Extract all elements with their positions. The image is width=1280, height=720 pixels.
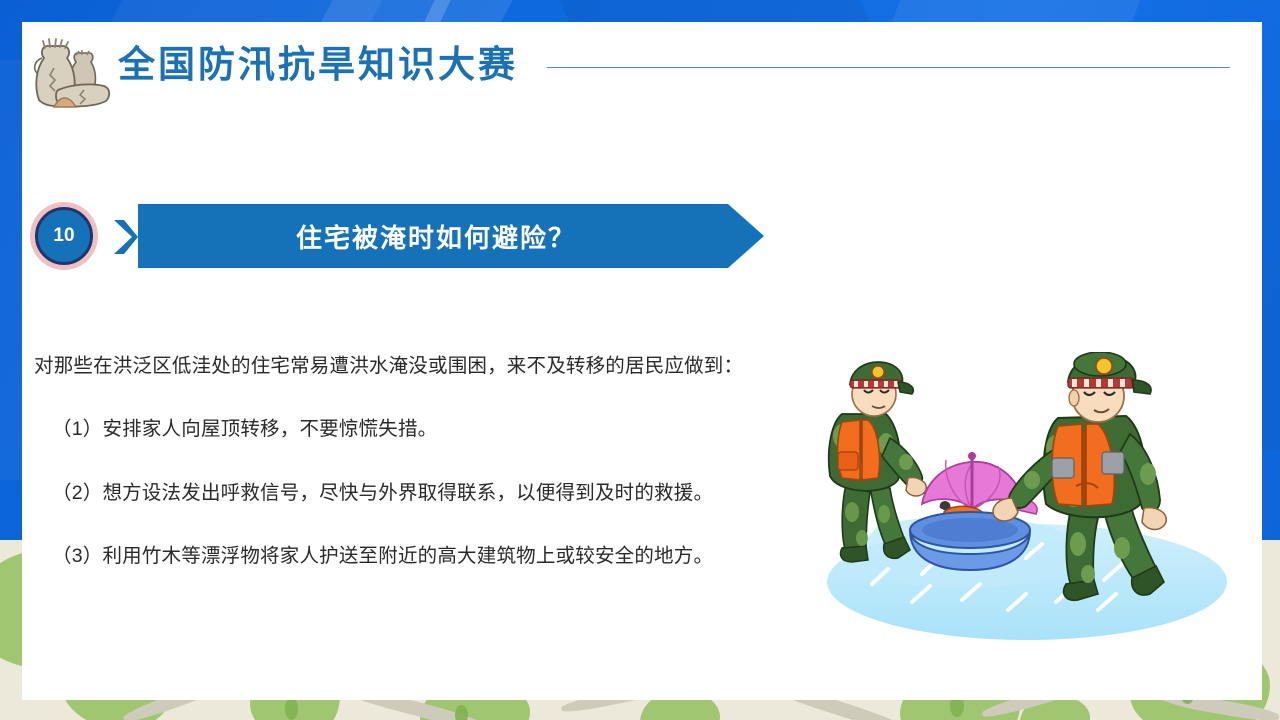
question-row: 10 住宅被淹时如何避险？ — [22, 202, 1262, 302]
slide-root: 全国防汛抗旱知识大赛 10 住宅被淹时如何避险？ 对那些在洪泛区低洼处的住宅常易… — [0, 0, 1280, 720]
body-item-2: （2）想方设法发出呼救信号，尽快与外界取得联系，以便得到及时的救援。 — [34, 481, 824, 506]
body-intro: 对那些在洪泛区低洼处的住宅常易遭洪水淹没或围困，来不及转移的居民应做到： — [34, 354, 824, 379]
slide-header: 全国防汛抗旱知识大赛 — [22, 22, 1262, 132]
question-number-badge: 10 — [30, 202, 98, 270]
chevron-right-icon — [110, 217, 140, 257]
body-item-1: （1）安排家人向屋顶转移，不要惊慌失措。 — [34, 417, 824, 442]
flood-rescue-illustration — [812, 352, 1232, 642]
question-text: 住宅被淹时如何避险？ — [296, 218, 606, 255]
question-number: 10 — [35, 207, 93, 265]
content-card: 全国防汛抗旱知识大赛 10 住宅被淹时如何避险？ 对那些在洪泛区低洼处的住宅常易… — [22, 22, 1262, 700]
sandbag-icon — [24, 28, 120, 120]
page-title: 全国防汛抗旱知识大赛 — [118, 44, 518, 87]
body-item-3: （3）利用竹木等漂浮物将家人护送至附近的高大建筑物上或较安全的地方。 — [34, 544, 824, 569]
question-banner: 住宅被淹时如何避险？ — [138, 204, 764, 268]
title-divider — [547, 67, 1230, 68]
body-text-block: 对那些在洪泛区低洼处的住宅常易遭洪水淹没或围困，来不及转移的居民应做到： （1）… — [34, 354, 824, 569]
